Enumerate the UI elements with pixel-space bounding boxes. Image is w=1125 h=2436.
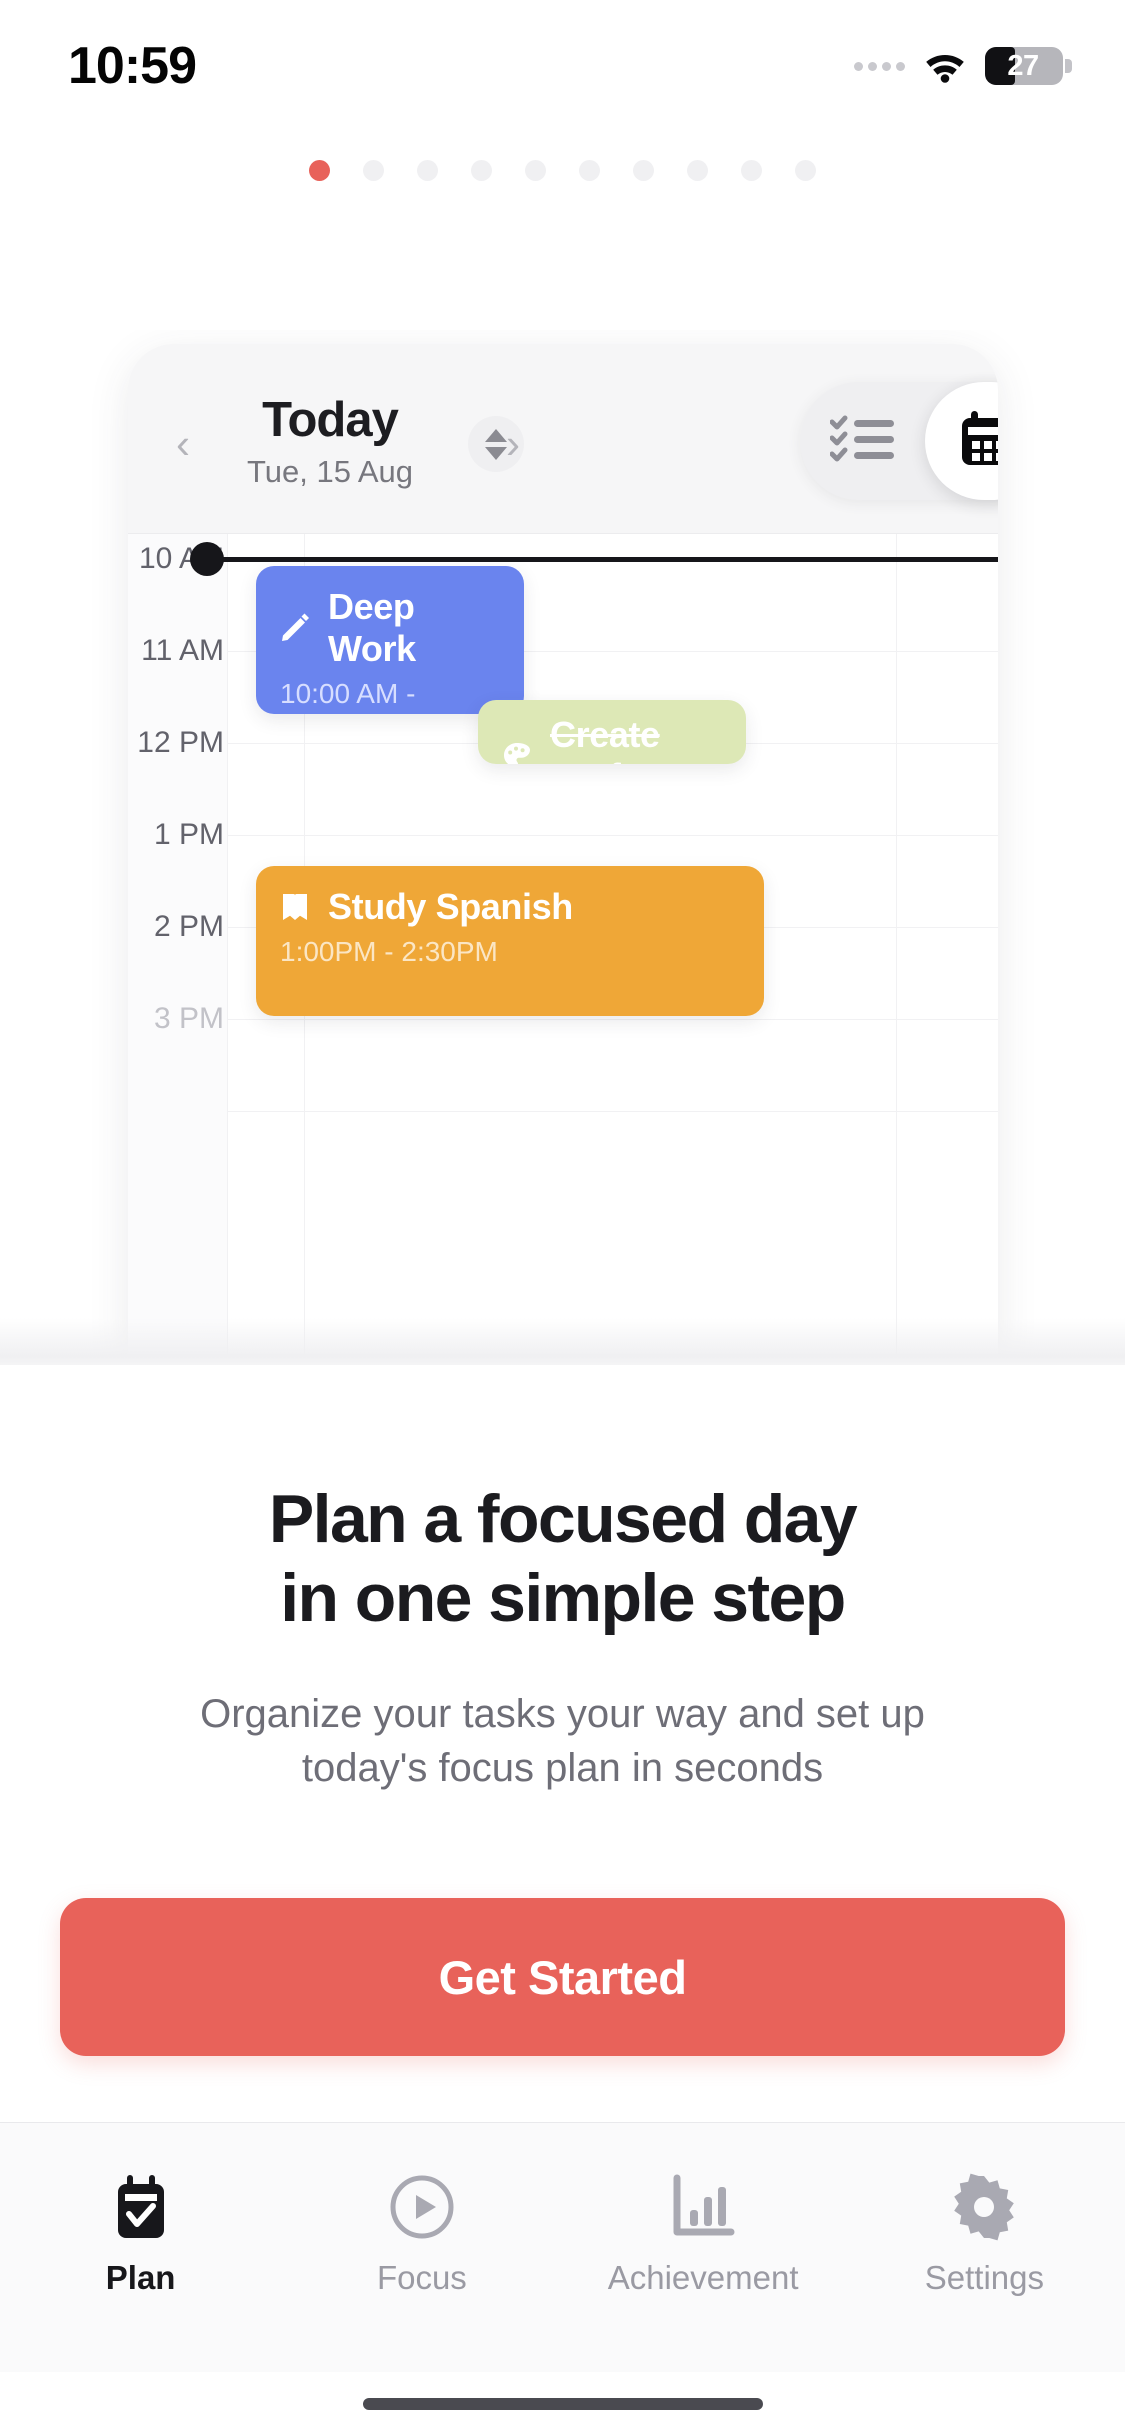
calendar-event-deep-work[interactable]: Deep Work 10:00 AM - 11:30AM bbox=[256, 566, 524, 714]
page-dot-3[interactable] bbox=[471, 160, 492, 181]
page-title: Today bbox=[200, 392, 460, 448]
time-label: 11 AM bbox=[128, 634, 224, 668]
tab-label: Achievement bbox=[608, 2259, 799, 2297]
calendar-view-toggle-button[interactable] bbox=[925, 382, 998, 500]
onboarding-headline: Plan a focused day in one simple step bbox=[0, 1480, 1125, 1638]
calendar-timeline[interactable]: 10 AM 11 AM 12 PM 1 PM 2 PM 3 PM Deep Wo… bbox=[128, 534, 998, 1354]
home-indicator bbox=[363, 2398, 763, 2410]
list-view-toggle-button[interactable] bbox=[800, 382, 925, 500]
time-label: 12 PM bbox=[128, 726, 224, 760]
chevron-left-icon[interactable]: ‹ bbox=[163, 424, 203, 464]
tab-label: Focus bbox=[377, 2259, 467, 2297]
signal-dots-icon bbox=[854, 62, 905, 71]
time-label: 3 PM bbox=[128, 1002, 224, 1036]
time-label: 2 PM bbox=[128, 910, 224, 944]
calendar-header: ‹ Today Tue, 15 Aug › bbox=[128, 344, 998, 534]
calendar-preview-hero: ‹ Today Tue, 15 Aug › bbox=[0, 330, 1125, 1365]
checklist-icon bbox=[830, 413, 896, 470]
wifi-icon bbox=[923, 49, 967, 83]
subtitle-line-1: Organize your tasks your way and set up bbox=[0, 1688, 1125, 1742]
page-dot-4[interactable] bbox=[525, 160, 546, 181]
book-icon bbox=[278, 890, 312, 924]
tab-settings[interactable]: Settings bbox=[844, 2171, 1125, 2297]
gear-icon bbox=[949, 2171, 1019, 2243]
tab-achievement[interactable]: Achievement bbox=[563, 2171, 844, 2297]
calendar-title-block: Today Tue, 15 Aug bbox=[200, 392, 460, 490]
calendar-icon bbox=[957, 408, 999, 475]
event-time: 10:00 AM - 11:30AM bbox=[278, 678, 502, 714]
current-time-line bbox=[204, 557, 998, 562]
play-circle-icon bbox=[387, 2171, 457, 2243]
onboarding-page-indicator[interactable] bbox=[0, 160, 1125, 181]
get-started-button[interactable]: Get Started bbox=[60, 1898, 1065, 2056]
bar-chart-icon bbox=[668, 2171, 738, 2243]
page-dot-1[interactable] bbox=[363, 160, 384, 181]
calendar-event-create-draft[interactable]: Create Draft bbox=[478, 700, 746, 764]
bottom-tab-bar: Plan Focus Achievement bbox=[0, 2122, 1125, 2372]
tab-label: Settings bbox=[925, 2259, 1044, 2297]
chevron-right-icon[interactable]: › bbox=[493, 424, 533, 464]
page-dot-2[interactable] bbox=[417, 160, 438, 181]
headline-line-1: Plan a focused day bbox=[0, 1480, 1125, 1559]
event-title: Create Draft bbox=[550, 714, 724, 764]
event-title: Deep Work bbox=[328, 586, 502, 670]
time-label: 1 PM bbox=[128, 818, 224, 852]
battery-icon: 27 bbox=[985, 47, 1063, 85]
page-dot-7[interactable] bbox=[687, 160, 708, 181]
view-mode-toggle[interactable] bbox=[800, 382, 998, 500]
calendar-event-study-spanish[interactable]: Study Spanish 1:00PM - 2:30PM bbox=[256, 866, 764, 1016]
battery-percent: 27 bbox=[985, 50, 1063, 83]
current-time-dot bbox=[190, 542, 224, 576]
page-dot-9[interactable] bbox=[795, 160, 816, 181]
palette-icon bbox=[500, 739, 534, 764]
calendar-date-subtitle: Tue, 15 Aug bbox=[200, 454, 460, 490]
status-bar-time: 10:59 bbox=[68, 36, 196, 96]
status-bar: 10:59 27 bbox=[0, 0, 1125, 132]
page-dot-5[interactable] bbox=[579, 160, 600, 181]
tab-plan[interactable]: Plan bbox=[0, 2171, 281, 2297]
headline-line-2: in one simple step bbox=[0, 1559, 1125, 1638]
calendar-check-icon bbox=[110, 2171, 172, 2243]
subtitle-line-2: today's focus plan in seconds bbox=[0, 1742, 1125, 1796]
status-bar-indicators: 27 bbox=[854, 47, 1063, 85]
event-title: Study Spanish bbox=[328, 886, 573, 928]
page-dot-6[interactable] bbox=[633, 160, 654, 181]
calendar-card: ‹ Today Tue, 15 Aug › bbox=[128, 344, 998, 1354]
tab-focus[interactable]: Focus bbox=[281, 2171, 562, 2297]
tab-label: Plan bbox=[106, 2259, 176, 2297]
pencil-icon bbox=[278, 611, 312, 645]
page-dot-0[interactable] bbox=[309, 160, 330, 181]
event-time: 1:00PM - 2:30PM bbox=[278, 936, 742, 968]
onboarding-subtitle: Organize your tasks your way and set up … bbox=[0, 1688, 1125, 1795]
page-dot-8[interactable] bbox=[741, 160, 762, 181]
